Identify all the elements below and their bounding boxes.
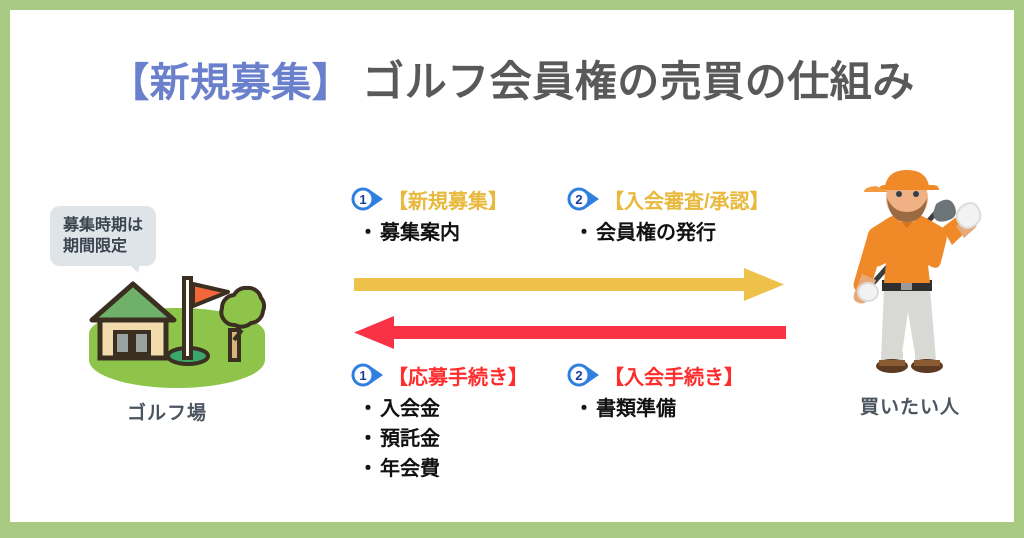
step-bottom-1-label: 【応募手続き】 [388, 361, 528, 390]
step-top-1-bullets: 募集案内 [350, 218, 508, 248]
step-number-text: 1 [359, 192, 366, 207]
callout-line-2: 期間限定 [63, 236, 143, 257]
list-item: 募集案内 [350, 218, 508, 248]
page-title-tag: 【新規募集】 [109, 61, 352, 105]
step-top-1: 1 【新規募集】 募集案内 [350, 186, 508, 248]
page-title-main: ゴルフ会員権の売買の仕組み [362, 58, 915, 105]
golf-course-block: 募集時期は 期間限定 [32, 200, 302, 425]
steps-bottom-row: 1 【応募手続き】 入会金 預託金 年会費 [350, 362, 820, 497]
infographic-frame: 【新規募集】ゴルフ会員権の売買の仕組み 募集時期は 期間限定 [0, 0, 1024, 538]
forward-arrow-icon [354, 268, 784, 301]
step-top-2: 2 【入会審査/承認】 会員権の発行 [566, 186, 770, 248]
step-number-text: 2 [575, 192, 582, 207]
step-bottom-2-bullets: 書類準備 [566, 394, 744, 424]
list-item: 年会費 [350, 454, 528, 484]
step-top-2-label: 【入会審査/承認】 [604, 185, 770, 214]
step-number-text: 2 [575, 368, 582, 383]
recruitment-period-callout: 募集時期は 期間限定 [50, 206, 156, 266]
golf-course-icon [82, 262, 272, 397]
step-bottom-1: 1 【応募手続き】 入会金 預託金 年会費 [350, 362, 528, 484]
step-number-badge-icon: 1 [350, 187, 386, 211]
step-bottom-1-bullets: 入会金 預託金 年会費 [350, 394, 528, 484]
callout-line-1: 募集時期は [63, 215, 143, 236]
buyer-caption: 買いたい人 [810, 392, 1010, 419]
list-item: 書類準備 [566, 394, 744, 424]
step-top-1-head: 1 【新規募集】 [350, 186, 508, 212]
step-number-text: 1 [359, 368, 366, 383]
golfer-icon [832, 170, 982, 387]
flow-arrows [348, 266, 792, 352]
list-item: 会員権の発行 [566, 218, 770, 248]
list-item: 預託金 [350, 424, 528, 454]
step-top-2-head: 2 【入会審査/承認】 [566, 186, 770, 212]
step-bottom-2: 2 【入会手続き】 書類準備 [566, 362, 744, 424]
infographic-canvas: 【新規募集】ゴルフ会員権の売買の仕組み 募集時期は 期間限定 [10, 10, 1014, 522]
backward-arrow-icon [354, 316, 786, 349]
step-bottom-2-head: 2 【入会手続き】 [566, 362, 744, 388]
step-bottom-1-head: 1 【応募手続き】 [350, 362, 528, 388]
list-item: 入会金 [350, 394, 528, 424]
step-number-badge-icon: 2 [566, 363, 602, 387]
step-top-1-label: 【新規募集】 [388, 185, 508, 214]
steps-top-row: 1 【新規募集】 募集案内 2 [350, 186, 820, 266]
buyer-block: 買いたい人 [810, 170, 1010, 425]
step-bottom-2-label: 【入会手続き】 [604, 361, 744, 390]
page-title: 【新規募集】ゴルフ会員権の売買の仕組み [10, 48, 1014, 109]
step-number-badge-icon: 2 [566, 187, 602, 211]
step-number-badge-icon: 1 [350, 363, 386, 387]
step-top-2-bullets: 会員権の発行 [566, 218, 770, 248]
golf-course-caption: ゴルフ場 [32, 398, 302, 425]
